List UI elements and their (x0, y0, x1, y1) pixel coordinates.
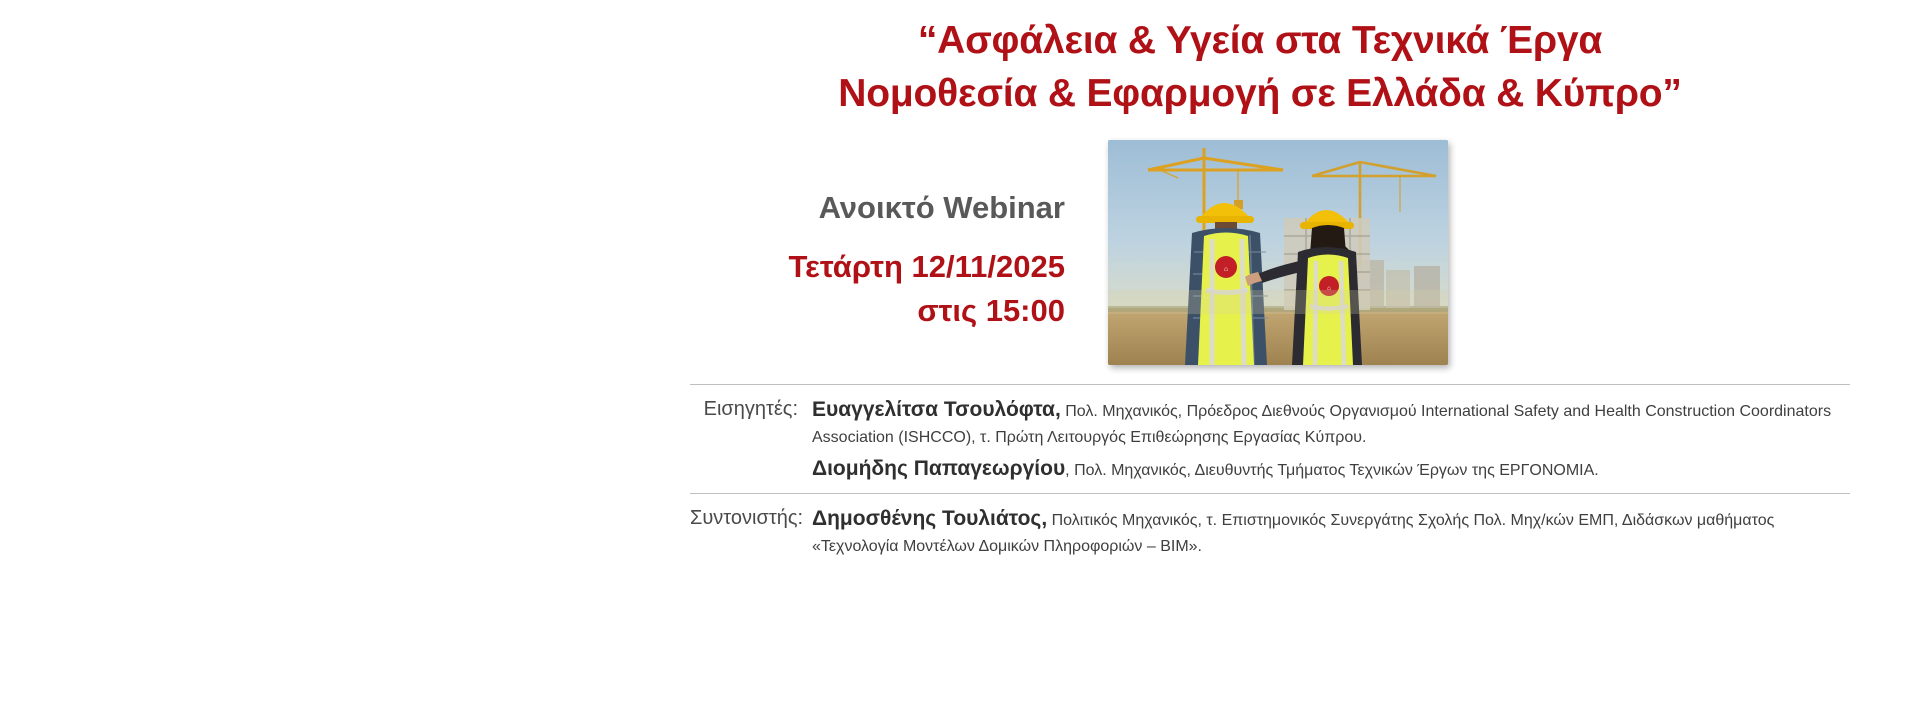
speakers-row: Εισηγητές: Ευαγγελίτσα Τσουλόφτα, Πολ. Μ… (690, 385, 1850, 493)
title-line-1: “Ασφάλεια & Υγεία στα Τεχνικά Έργα (640, 14, 1880, 67)
speakers-body: Ευαγγελίτσα Τσουλόφτα, Πολ. Μηχανικός, Π… (812, 394, 1850, 487)
page-title: “Ασφάλεια & Υγεία στα Τεχνικά Έργα Νομοθ… (640, 14, 1880, 120)
title-line-2: Νομοθεσία & Εφαρμογή σε Ελλάδα & Κύπρο” (640, 67, 1880, 120)
photo-illustration: ⌂ ⌂ (1108, 140, 1448, 365)
speaker-2-name: Διομήδης Παπαγεωργίου (812, 457, 1065, 480)
construction-workers-photo: ⌂ ⌂ (1108, 140, 1448, 365)
webinar-slide: “Ασφάλεια & Υγεία στα Τεχνικά Έργα Νομοθ… (0, 0, 1920, 719)
event-date: Τετάρτη 12/11/2025 (640, 245, 1065, 289)
event-type: Ανοικτό Webinar (640, 186, 1065, 231)
credits-section: Εισηγητές: Ευαγγελίτσα Τσουλόφτα, Πολ. Μ… (690, 384, 1850, 567)
speaker-2-description: , Πολ. Μηχανικός, Διευθυντής Τμήματος Τε… (1065, 462, 1599, 479)
event-info: Ανοικτό Webinar Τετάρτη 12/11/2025 στις … (640, 186, 1065, 333)
event-time: στις 15:00 (640, 289, 1065, 333)
speaker-2: Διομήδης Παπαγεωργίου, Πολ. Μηχανικός, Δ… (812, 453, 1850, 485)
svg-text:⌂: ⌂ (1224, 266, 1228, 273)
moderator-1: Δημοσθένης Τουλιάτος, Πολιτικός Μηχανικό… (812, 503, 1850, 559)
speaker-1: Ευαγγελίτσα Τσουλόφτα, Πολ. Μηχανικός, Π… (812, 394, 1850, 450)
moderator-label: Συντονιστής: (690, 503, 812, 533)
moderator-body: Δημοσθένης Τουλιάτος, Πολιτικός Μηχανικό… (812, 503, 1850, 561)
moderator-row: Συντονιστής: Δημοσθένης Τουλιάτος, Πολιτ… (690, 494, 1850, 567)
moderator-1-name: Δημοσθένης Τουλιάτος, (812, 507, 1047, 530)
speaker-1-name: Ευαγγελίτσα Τσουλόφτα, (812, 398, 1061, 421)
speakers-label: Εισηγητές: (690, 394, 812, 424)
